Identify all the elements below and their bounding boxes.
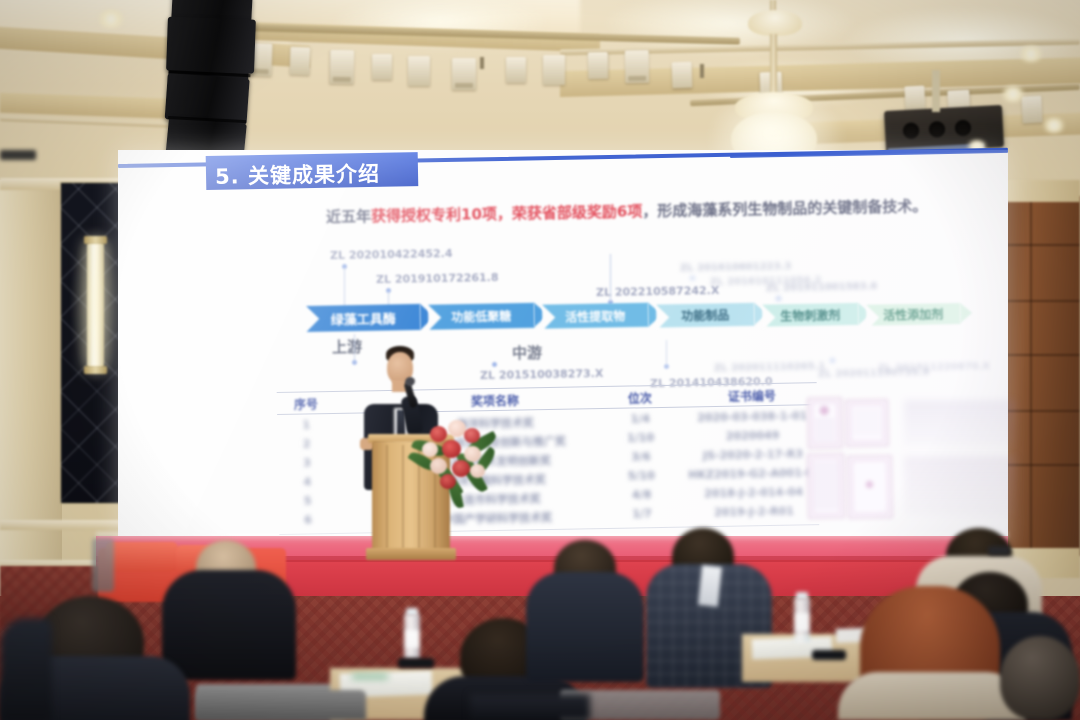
audience-person: [162, 570, 296, 680]
flow-stage-3: 活性提取物: [542, 303, 648, 329]
right-wall-trim: [1000, 180, 1080, 202]
paper-marking: [352, 674, 388, 679]
flow-stage-1: 绿藻工具酶: [306, 304, 420, 332]
stage-spotlight: [290, 47, 311, 76]
cell-no: 6: [285, 513, 331, 527]
flow-stage-4: 功能制品: [656, 303, 754, 328]
cell-cert: 2019-J-2-R01: [693, 504, 815, 519]
audience-head: [1000, 636, 1080, 720]
stage-spotlight: [625, 50, 650, 83]
cell-rank: 1/7: [609, 507, 675, 521]
projection-screen: 5. 关键成果介绍 近五年获得授权专利10项，荣获省部级奖励6项，形成海藻系列生…: [118, 150, 1008, 550]
flow-stage-2: 功能低聚糖: [428, 303, 534, 330]
certificate-detail: [904, 400, 1016, 446]
cell-rank: 3/6: [608, 450, 674, 464]
cell-cert: 2020-03-038-1-01: [691, 409, 813, 424]
water-bottle: [794, 598, 810, 642]
cell-no: 3: [284, 456, 330, 470]
flow-stage-label: 功能低聚糖: [451, 307, 511, 325]
patent-number: ZL 202210587242.X: [596, 284, 720, 299]
phone: [812, 650, 846, 660]
cell-cert: 2018-J-2-014-04: [693, 485, 815, 500]
audience-person: [526, 572, 644, 682]
chair-frame: [92, 538, 114, 592]
subtitle-part-2: 获得授权专利10项，荣获省部级奖励6项: [371, 202, 643, 225]
patent-number: ZL 201610111056.2: [710, 275, 822, 288]
flow-stage-label: 功能制品: [681, 306, 729, 324]
flow-stage-label: 生物刺激剂: [780, 306, 840, 324]
patent-number: ZL 201510038273.X: [480, 367, 604, 382]
cell-cert: JS-2020-2-17-R3: [692, 447, 814, 462]
cell-rank: 1/10: [608, 431, 674, 445]
projector-mount: [932, 70, 940, 112]
table-header-no: 序号: [283, 395, 329, 413]
stage-spotlight: [543, 55, 565, 85]
chandelier-canopy: [748, 10, 802, 36]
patent-number: ZL 201910172261.8: [376, 271, 499, 286]
certificate-detail: [904, 456, 1016, 516]
cell-rank: 5/10: [608, 469, 674, 483]
stream-label-upstream: 上游: [332, 336, 362, 358]
stage-spotlight: [408, 56, 430, 86]
subtitle-part-1: 近五年: [326, 207, 371, 226]
sofa-cushion: [106, 542, 178, 572]
certificate-thumbnail: [807, 454, 844, 519]
slide-title-band: 5. 关键成果介绍: [206, 152, 419, 190]
stage-spotlight: [330, 50, 355, 84]
bag: [470, 694, 590, 720]
cell-cert: HKZ2019-G2-A001-02: [688, 466, 818, 481]
conference-hall-photo: 5. 关键成果介绍 近五年获得授权专利10项，荣获省部级奖励6项，形成海藻系列生…: [0, 0, 1080, 720]
flower-arrangement: [408, 408, 498, 508]
patent-number: ZL 202011110265.1: [714, 361, 826, 374]
flow-stage-label: 活性提取物: [565, 307, 625, 325]
flow-stage-5: 生物刺激剂: [762, 303, 858, 327]
phone: [398, 658, 434, 668]
stage-spotlight: [372, 54, 392, 80]
ceiling-downlight: [96, 10, 126, 28]
water-bottle: [404, 614, 420, 660]
patent-number: ZL 201911220870.X: [878, 361, 990, 374]
cell-rank: 1/4: [607, 412, 673, 426]
cell-no: 5: [285, 494, 331, 508]
podium-base: [366, 548, 456, 560]
patent-number: ZL 202010422452.4: [330, 247, 453, 262]
awards-table: 序号 奖项名称 位次 证书编号 1 海洋科学技术奖 1/4 2020-03-03…: [277, 382, 819, 532]
table-header-rank: 位次: [607, 389, 673, 407]
sconce-glow: [70, 224, 122, 384]
subtitle-part-3: ，形成海藻系列生物制品的关键制备技术。: [642, 197, 927, 220]
wall-baseboard-trim: [0, 520, 120, 530]
stream-label-midstream: 中游: [512, 342, 542, 364]
stage-spotlight: [1021, 95, 1042, 123]
audience-person: [838, 672, 1026, 720]
table-header-cert: 证书编号: [691, 386, 813, 405]
flow-stage-label: 绿藻工具酶: [331, 308, 396, 328]
cell-no: 4: [284, 475, 330, 489]
shirt-collar: [698, 565, 722, 607]
wall-pillar: [0, 180, 62, 620]
chair-back: [196, 690, 366, 720]
cell-cert: 2020049: [691, 428, 813, 443]
page-title: 5. 关键成果介绍: [215, 158, 380, 191]
flow-stage-label: 活性添加剂: [883, 305, 943, 323]
stage-spotlight: [506, 57, 526, 83]
stage-spotlight: [452, 58, 476, 90]
patent-number: ZL 201610601223.3: [680, 261, 792, 274]
bottle-cap: [796, 592, 808, 600]
ceiling-downlight: [1018, 46, 1044, 62]
bottle-cap: [406, 608, 418, 616]
cell-no: 1: [283, 418, 329, 432]
audience-person: [0, 618, 52, 720]
cell-rank: 4/8: [609, 488, 675, 502]
certificate-thumbnail: [846, 400, 889, 447]
ceiling-downlight: [1042, 118, 1066, 133]
certificate-thumbnail: [847, 456, 892, 519]
certificate-thumbnail: [808, 398, 843, 449]
slide-subtitle: 近五年获得授权专利10项，荣获省部级奖励6项，形成海藻系列生物制品的关键制备技术…: [326, 195, 928, 227]
ceiling-downlight: [1000, 86, 1026, 102]
eyeglasses: [988, 546, 1010, 555]
flow-stage-6: 活性添加剂: [866, 303, 960, 326]
stage-spotlight: [672, 62, 693, 89]
stage-spotlight: [588, 52, 608, 79]
wall-speaker: [0, 150, 36, 160]
cell-no: 2: [284, 437, 330, 451]
